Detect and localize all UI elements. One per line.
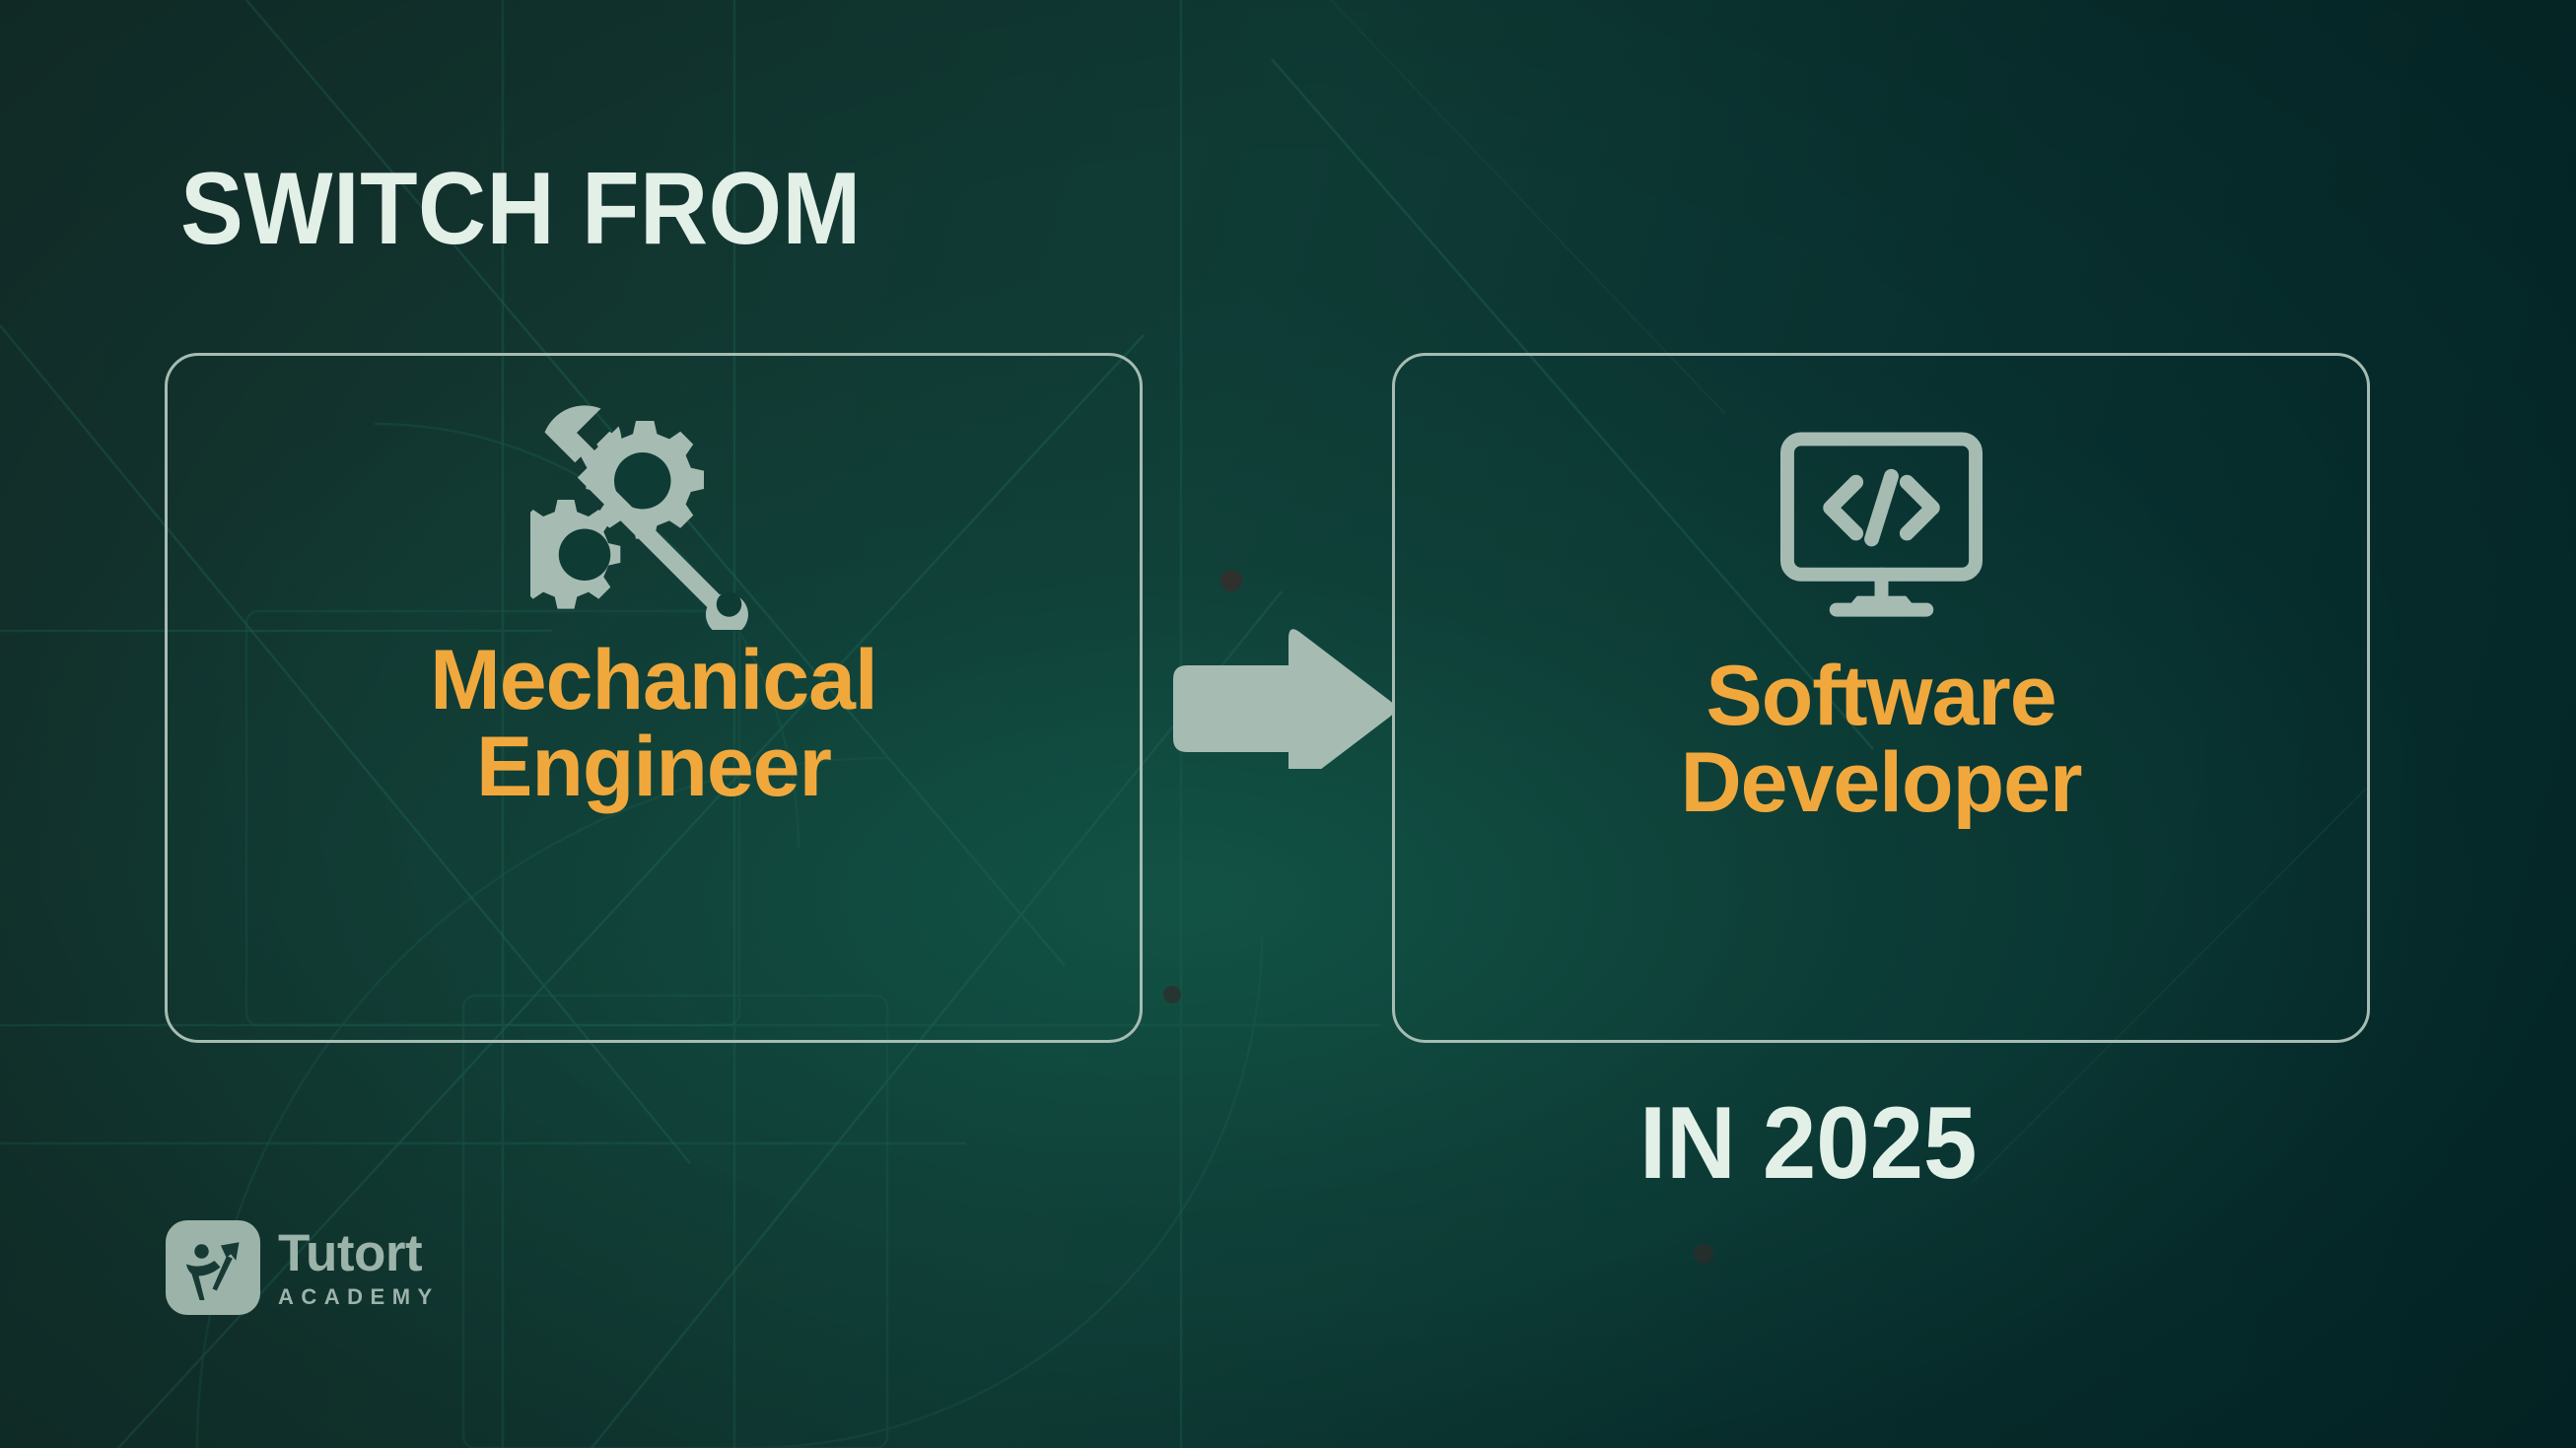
brand-logo-text: Tutort ACADEMY (278, 1227, 440, 1308)
page-title: SWITCH FROM (180, 158, 862, 260)
year-label: IN 2025 (1639, 1092, 1977, 1195)
card-to-role-line2: Developer (1681, 740, 2082, 827)
poster-canvas: SWITCH FROM (0, 0, 2576, 1448)
card-from-role-line2: Engineer (430, 724, 877, 811)
decorative-dot (1220, 570, 1242, 591)
card-to-role-line1: Software (1681, 654, 2082, 740)
card-from-role-line1: Mechanical (430, 638, 877, 724)
card-to-role: Software Developer (1392, 353, 2370, 1043)
decorative-dot (1163, 986, 1181, 1003)
wrench-and-gears-icon (530, 403, 777, 630)
card-to-role-title: Software Developer (1681, 654, 2082, 826)
card-from-role-title: Mechanical Engineer (430, 638, 877, 810)
tutort-person-arrow-icon (166, 1220, 260, 1315)
brand-name: Tutort (278, 1227, 440, 1279)
right-arrow-icon (1159, 623, 1396, 769)
brand-logo[interactable]: Tutort ACADEMY (166, 1220, 440, 1315)
card-from-role: Mechanical Engineer (165, 353, 1143, 1043)
brand-subtitle: ACADEMY (278, 1286, 440, 1308)
decorative-dot (1694, 1244, 1713, 1264)
monitor-code-icon (1775, 419, 1987, 636)
